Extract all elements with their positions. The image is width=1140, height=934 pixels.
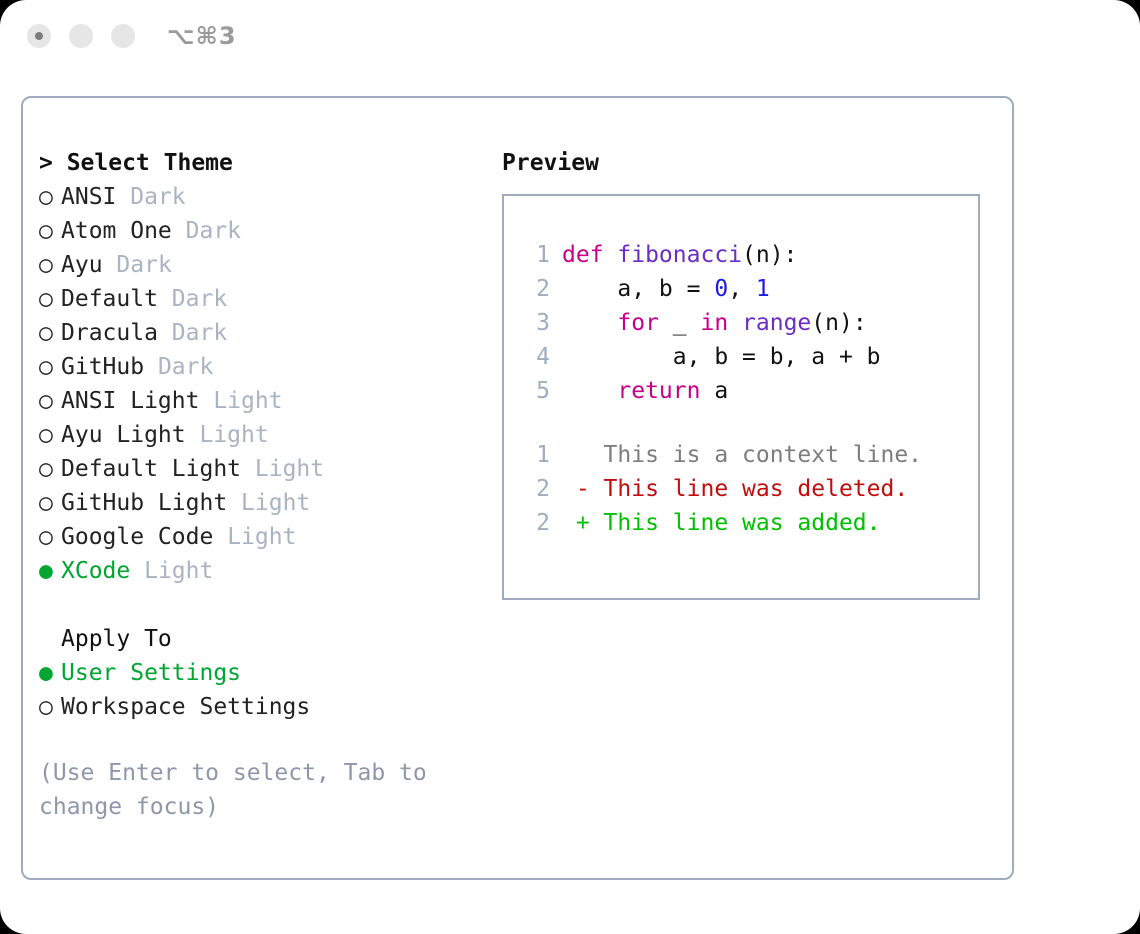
radio-unselected-icon: ○: [39, 248, 61, 282]
theme-option-github-light[interactable]: ○GitHub Light Light: [39, 486, 479, 520]
token-txt: [728, 310, 742, 336]
token-txt: _: [659, 310, 701, 336]
theme-option-ayu-light[interactable]: ○Ayu Light Light: [39, 418, 479, 452]
theme-option-tag: Light: [199, 418, 268, 452]
main-panel: > Select Theme ○ANSI Dark○Atom One Dark○…: [21, 96, 1014, 880]
token-txt: ,: [728, 276, 756, 302]
theme-option-label: Google Code: [61, 520, 213, 554]
theme-option-ansi-light[interactable]: ○ANSI Light Light: [39, 384, 479, 418]
radio-unselected-icon: ○: [39, 282, 61, 316]
theme-option-tag: Light: [144, 554, 213, 588]
preview-column: Preview 1def fibonacci(n):2 a, b = 0, 13…: [502, 146, 1002, 600]
line-content: a, b = b, a + b: [562, 340, 881, 374]
line-number: 1: [522, 238, 550, 272]
token-ctx: This is a context line.: [562, 442, 922, 468]
theme-option-tag: Light: [255, 452, 324, 486]
radio-unselected-icon: ○: [39, 384, 61, 418]
label-tag-space: [172, 214, 186, 248]
code-sample: 1def fibonacci(n):2 a, b = 0, 13 for _ i…: [522, 238, 978, 408]
theme-option-default[interactable]: ○Default Dark: [39, 282, 479, 316]
line-number: 5: [522, 374, 550, 408]
radio-unselected-icon: ○: [39, 690, 61, 724]
token-kw: for: [617, 310, 659, 336]
theme-option-label: Atom One: [61, 214, 172, 248]
window-dot-active-icon[interactable]: [27, 24, 51, 48]
token-txt: (n):: [742, 242, 797, 268]
theme-option-google-code[interactable]: ○Google Code Light: [39, 520, 479, 554]
theme-option-label: GitHub Light: [61, 486, 227, 520]
radio-unselected-icon: ○: [39, 452, 61, 486]
window-dot-third-icon[interactable]: [111, 24, 135, 48]
radio-unselected-icon: ○: [39, 486, 61, 520]
diff-line: 2 - This line was deleted.: [522, 472, 978, 506]
code-line: 2 a, b = 0, 1: [522, 272, 978, 306]
theme-option-tag: Dark: [186, 214, 241, 248]
theme-option-label: ANSI: [61, 180, 116, 214]
apply-to-option-label: Workspace Settings: [61, 690, 310, 724]
token-num: 1: [756, 276, 770, 302]
token-txt: a: [700, 378, 728, 404]
window-dot-second-icon[interactable]: [69, 24, 93, 48]
radio-unselected-icon: ○: [39, 316, 61, 350]
radio-selected-icon: ●: [39, 554, 61, 588]
label-tag-space: [158, 282, 172, 316]
radio-unselected-icon: ○: [39, 520, 61, 554]
theme-option-label: ANSI Light: [61, 384, 199, 418]
theme-option-ayu[interactable]: ○Ayu Dark: [39, 248, 479, 282]
line-content: def fibonacci(n):: [562, 238, 797, 272]
line-number: 2: [522, 272, 550, 306]
label-tag-space: [199, 384, 213, 418]
code-line: 3 for _ in range(n):: [522, 306, 978, 340]
theme-option-default-light[interactable]: ○Default Light Light: [39, 452, 479, 486]
code-line: 1def fibonacci(n):: [522, 238, 978, 272]
token-num: 0: [714, 276, 728, 302]
label-tag-space: [116, 180, 130, 214]
token-fn: fibonacci: [617, 242, 742, 268]
token-txt: (n):: [811, 310, 866, 336]
theme-option-label: Default Light: [61, 452, 241, 486]
radio-unselected-icon: ○: [39, 350, 61, 384]
line-number: 1: [522, 438, 550, 472]
token-del: - This line was deleted.: [562, 476, 908, 502]
theme-option-xcode[interactable]: ●XCode Light: [39, 554, 479, 588]
token-kw: in: [700, 310, 728, 336]
apply-to-option-user-settings[interactable]: ●User Settings: [39, 656, 479, 690]
token-add: + This line was added.: [562, 510, 881, 536]
token-txt: [562, 310, 617, 336]
radio-selected-icon: ●: [39, 656, 61, 690]
token-txt: a, b = b, a + b: [562, 344, 881, 370]
radio-unselected-icon: ○: [39, 214, 61, 248]
section-spacer: [39, 588, 479, 622]
apply-to-option-label: User Settings: [61, 656, 241, 690]
apply-to-option-workspace-settings[interactable]: ○Workspace Settings: [39, 690, 479, 724]
apply-to-list: ●User Settings○Workspace Settings: [39, 656, 479, 724]
token-kw: return: [617, 378, 700, 404]
theme-option-tag: Dark: [130, 180, 185, 214]
theme-option-label: Default: [61, 282, 158, 316]
theme-option-tag: Dark: [172, 282, 227, 316]
token-fn: range: [742, 310, 811, 336]
theme-option-label: XCode: [61, 554, 130, 588]
select-theme-header: > Select Theme: [39, 146, 479, 180]
token-kw: def: [562, 242, 617, 268]
token-txt: a, b =: [562, 276, 714, 302]
theme-list: ○ANSI Dark○Atom One Dark○Ayu Dark○Defaul…: [39, 180, 479, 588]
label-tag-space: [158, 316, 172, 350]
label-tag-space: [241, 452, 255, 486]
theme-picker-column: > Select Theme ○ANSI Dark○Atom One Dark○…: [39, 146, 479, 824]
radio-unselected-icon: ○: [39, 418, 61, 452]
theme-option-ansi[interactable]: ○ANSI Dark: [39, 180, 479, 214]
label-tag-space: [186, 418, 200, 452]
theme-option-dracula[interactable]: ○Dracula Dark: [39, 316, 479, 350]
line-content: This is a context line.: [562, 438, 922, 472]
line-number: 4: [522, 340, 550, 374]
theme-option-tag: Dark: [116, 248, 171, 282]
line-number: 2: [522, 472, 550, 506]
window-controls: [27, 24, 135, 48]
title-bar: ⌥⌘3: [0, 0, 1140, 78]
diff-line: 1 This is a context line.: [522, 438, 978, 472]
radio-unselected-icon: ○: [39, 180, 61, 214]
theme-option-tag: Light: [227, 520, 296, 554]
label-tag-space: [227, 486, 241, 520]
label-tag-space: [130, 554, 144, 588]
theme-option-github[interactable]: ○GitHub Dark: [39, 350, 479, 384]
label-tag-space: [213, 520, 227, 554]
theme-option-tag: Dark: [172, 316, 227, 350]
preview-box: 1def fibonacci(n):2 a, b = 0, 13 for _ i…: [502, 194, 980, 600]
line-content: + This line was added.: [562, 506, 881, 540]
diff-line: 2 + This line was added.: [522, 506, 978, 540]
line-content: - This line was deleted.: [562, 472, 908, 506]
theme-option-label: Ayu: [61, 248, 103, 282]
line-content: a, b = 0, 1: [562, 272, 770, 306]
code-diff-spacer: [522, 408, 978, 438]
theme-option-tag: Dark: [158, 350, 213, 384]
preview-header: Preview: [502, 146, 1002, 180]
theme-option-label: GitHub: [61, 350, 144, 384]
code-line: 4 a, b = b, a + b: [522, 340, 978, 374]
line-content: return a: [562, 374, 728, 408]
keyboard-shortcut-label: ⌥⌘3: [167, 22, 237, 50]
theme-option-atom-one[interactable]: ○Atom One Dark: [39, 214, 479, 248]
theme-option-tag: Light: [241, 486, 310, 520]
apply-to-header: Apply To: [39, 622, 479, 656]
line-number: 2: [522, 506, 550, 540]
theme-option-label: Dracula: [61, 316, 158, 350]
dot-inner: [35, 32, 43, 40]
keyboard-hint-text: (Use Enter to select, Tab to change focu…: [39, 756, 439, 824]
label-tag-space: [144, 350, 158, 384]
token-txt: [562, 378, 617, 404]
code-line: 5 return a: [522, 374, 978, 408]
theme-option-label: Ayu Light: [61, 418, 186, 452]
line-content: for _ in range(n):: [562, 306, 867, 340]
theme-option-tag: Light: [213, 384, 282, 418]
line-number: 3: [522, 306, 550, 340]
diff-sample: 1 This is a context line.2 - This line w…: [522, 438, 978, 540]
label-tag-space: [103, 248, 117, 282]
app-window: ⌥⌘3 > Select Theme ○ANSI Dark○Atom One D…: [0, 0, 1140, 934]
